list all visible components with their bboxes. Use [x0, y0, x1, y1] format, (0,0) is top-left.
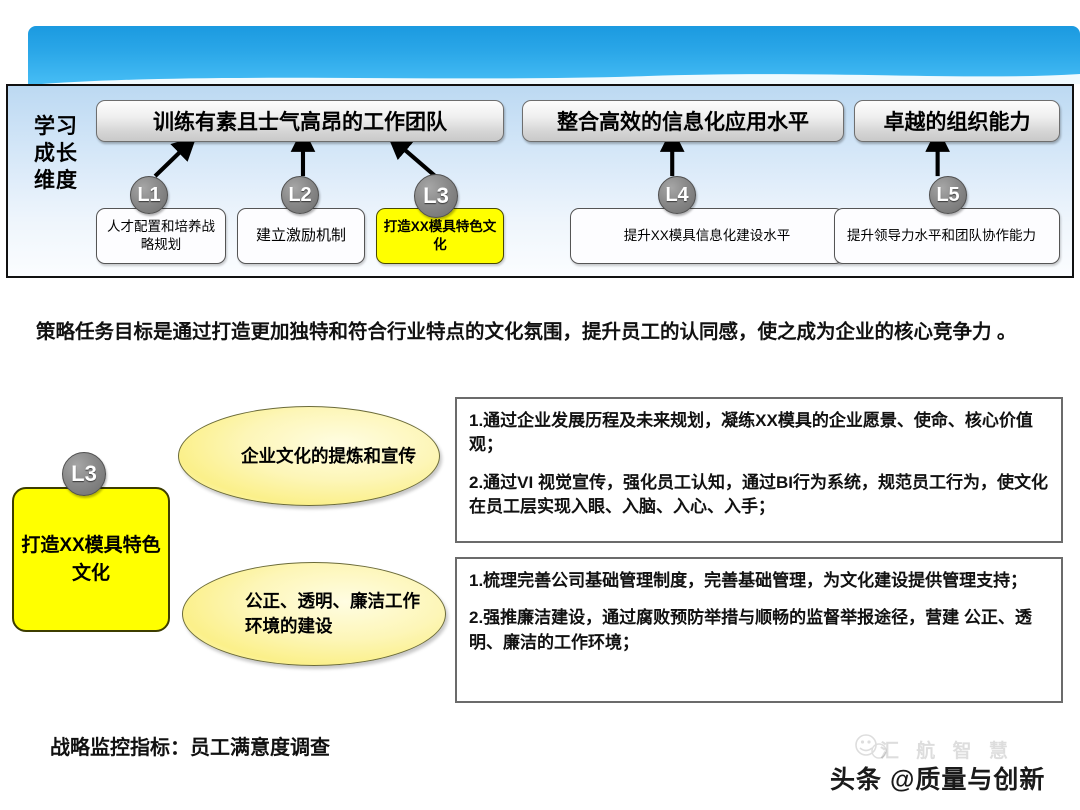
initiative-label-l2: 建立激励机制 [256, 226, 346, 246]
outcome-box-2[interactable]: 整合高效的信息化应用水平 [522, 100, 844, 142]
objective-paragraph: 策略任务目标是通过打造更加独特和符合行业特点的文化氛围，提升员工的认同感，使之成… [36, 318, 1046, 347]
detail-box-2: 1.梳理完善公司基础管理制度，完善基础管理，为文化建设提供管理支持； 2.强推廉… [455, 557, 1063, 703]
badge-l3-label: L3 [423, 183, 449, 209]
initiative-box-l1[interactable]: 人才配置和培养战略规划 [96, 208, 226, 264]
badge-l1[interactable]: L1 [130, 176, 168, 214]
outcome-label-1: 训练有素且士气高昂的工作团队 [153, 106, 447, 136]
brand-watermark: 头条 @质量与创新 [830, 760, 1045, 796]
focus-badge-l3[interactable]: L3 [62, 452, 106, 496]
initiative-label-l1: 人才配置和培养战略规划 [103, 218, 219, 254]
detail-item-1-2: 2.通过VI 视觉宣传，强化员工认知，通过BI行为系统，规范员工行为，使文化在员… [469, 471, 1049, 520]
banner-swoosh-decoration [28, 69, 1080, 85]
badge-l4-label: L4 [665, 184, 688, 207]
theme-ellipse-2-label: 公正、透明、廉洁工作环境的建设 [183, 589, 445, 639]
dimension-label-line1: 学习 [20, 114, 92, 141]
badge-l4[interactable]: L4 [658, 176, 696, 214]
detail-box-1: 1.通过企业发展历程及未来规划，凝练XX模具的企业愿景、使命、核心价值观； 2.… [455, 397, 1063, 543]
dimension-label: 学习 成长 维度 [20, 114, 92, 195]
strategy-map-panel: 学习 成长 维度 训练有素且士气高昂的工作团队 [6, 84, 1074, 278]
detail-item-2-2: 2.强推廉洁建设，通过腐败预防举措与顺畅的监督举报途径，营建 公正、透明、廉洁的… [469, 606, 1049, 655]
initiative-label-l5: 提升领导力水平和团队协作能力 [847, 227, 1036, 245]
slide-root: 学习 成长 维度 训练有素且士气高昂的工作团队 [0, 0, 1080, 810]
initiative-box-l2[interactable]: 建立激励机制 [237, 208, 365, 264]
focus-initiative-box[interactable]: 打造XX模具特色文化 [12, 487, 170, 632]
outcome-label-2: 整合高效的信息化应用水平 [557, 106, 809, 136]
theme-ellipse-1-label: 企业文化的提炼和宣传 [179, 444, 432, 469]
badge-l5-label: L5 [936, 184, 959, 207]
badge-l2[interactable]: L2 [281, 176, 319, 214]
theme-ellipse-2[interactable]: 公正、透明、廉洁工作环境的建设 [182, 562, 446, 666]
outcome-box-3[interactable]: 卓越的组织能力 [854, 100, 1060, 142]
badge-l5[interactable]: L5 [929, 176, 967, 214]
dimension-label-line2: 成长 [20, 141, 92, 168]
detail-item-1-1: 1.通过企业发展历程及未来规划，凝练XX模具的企业愿景、使命、核心价值观； [469, 409, 1049, 458]
focus-initiative-label: 打造XX模具特色文化 [14, 532, 168, 587]
outcome-box-1[interactable]: 训练有素且士气高昂的工作团队 [96, 100, 504, 142]
top-banner [28, 26, 1080, 84]
badge-l3[interactable]: L3 [414, 174, 458, 218]
badge-l2-label: L2 [288, 184, 311, 207]
focus-badge-label: L3 [71, 461, 97, 487]
outcome-label-3: 卓越的组织能力 [884, 106, 1031, 136]
initiative-label-l3: 打造XX模具特色文化 [383, 218, 497, 254]
badge-l1-label: L1 [137, 184, 160, 207]
kpi-line: 战略监控指标：员工满意度调查 [50, 731, 330, 760]
initiative-box-l4[interactable]: 提升XX模具信息化建设水平 [570, 208, 844, 264]
initiative-label-l4: 提升XX模具信息化建设水平 [624, 227, 791, 245]
initiative-box-l5[interactable]: 提升领导力水平和团队协作能力 [834, 208, 1060, 264]
detail-item-2-1: 1.梳理完善公司基础管理制度，完善基础管理，为文化建设提供管理支持； [469, 569, 1049, 593]
dimension-label-line3: 维度 [20, 168, 92, 195]
watermark-faint-text: 汇 航 智 慧 [880, 736, 1014, 763]
theme-ellipse-1[interactable]: 企业文化的提炼和宣传 [178, 406, 440, 506]
